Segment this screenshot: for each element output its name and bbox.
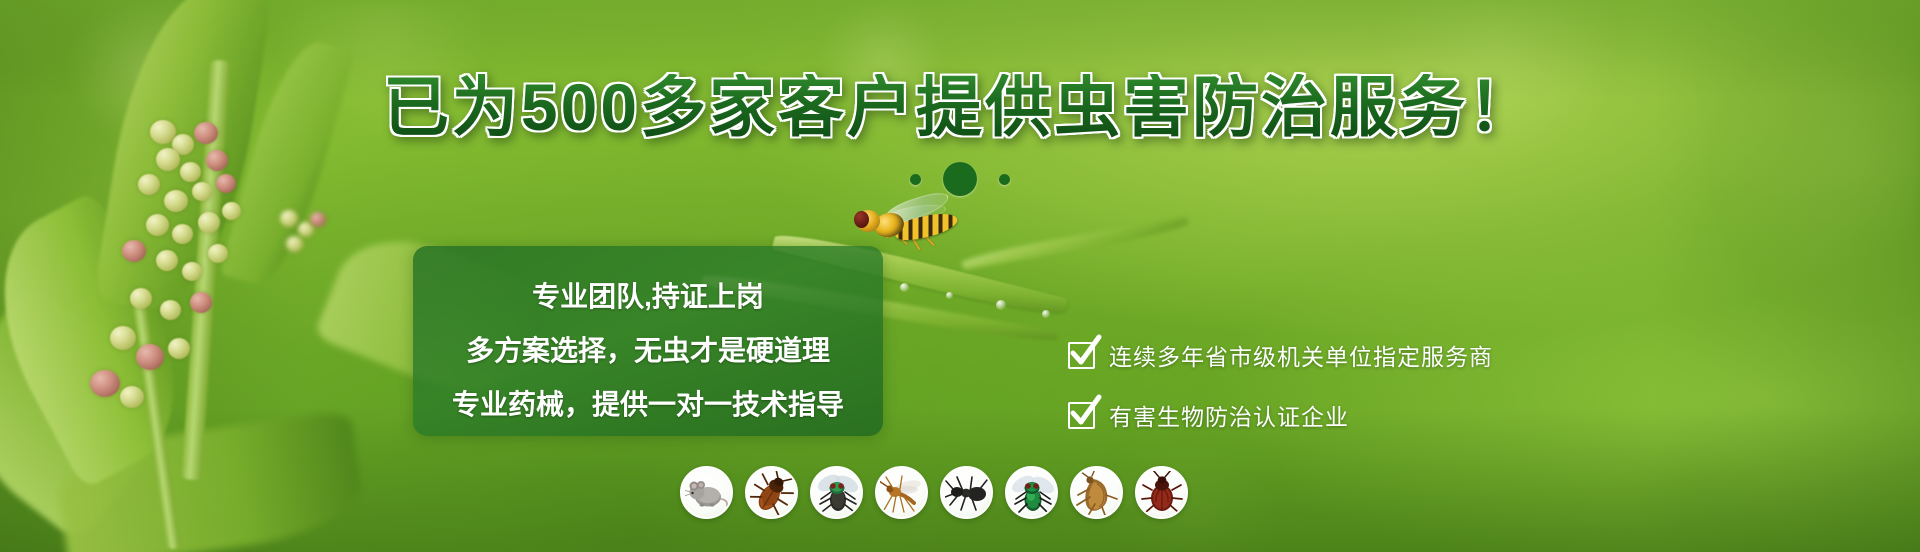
dew-drop [996,300,1006,310]
checkbox-checked-icon [1068,342,1095,369]
credential-item-2: 有害生物防治认证企业 [1068,398,1493,432]
housefly-icon[interactable] [810,466,863,519]
credential-label-2: 有害生物防治认证企业 [1109,398,1349,432]
credential-label-1: 连续多年省市级机关单位指定服务商 [1109,338,1493,372]
pest-type-icon-row [680,466,1188,519]
flea-icon[interactable] [1070,466,1123,519]
selling-points-panel: 专业团队,持证上岗 多方案选择，无虫才是硬道理 专业药械，提供一对一技术指导 [413,246,883,436]
page-title: 已为500多家客户提供虫害防治服务！ [0,74,1920,140]
bedbug-icon[interactable] [1135,466,1188,519]
pest-control-hero-banner: 已为500多家客户提供虫害防治服务！ 专业团队,持证上岗 多方案选择，无虫才是硬… [0,0,1920,552]
dew-drop [946,292,953,299]
decorative-dot-group [0,162,1920,196]
credentials-list: 连续多年省市级机关单位指定服务商 有害生物防治认证企业 [1068,338,1493,432]
ant-icon[interactable] [940,466,993,519]
decorative-dot-small-left [910,174,921,185]
mosquito-icon[interactable] [875,466,928,519]
dew-drop [1042,310,1050,318]
dew-drop [900,283,909,292]
checkbox-checked-icon [1068,402,1095,429]
selling-point-line-2: 多方案选择，无虫才是硬道理 [413,329,883,369]
decorative-dot-small-right [999,174,1010,185]
selling-point-line-3: 专业药械，提供一对一技术指导 [413,383,883,423]
decorative-dot-large-center [943,162,977,196]
greenfly-icon[interactable] [1005,466,1058,519]
selling-point-line-1: 专业团队,持证上岗 [413,275,883,315]
rat-icon[interactable] [680,466,733,519]
credential-item-1: 连续多年省市级机关单位指定服务商 [1068,338,1493,372]
cockroach-icon[interactable] [745,466,798,519]
